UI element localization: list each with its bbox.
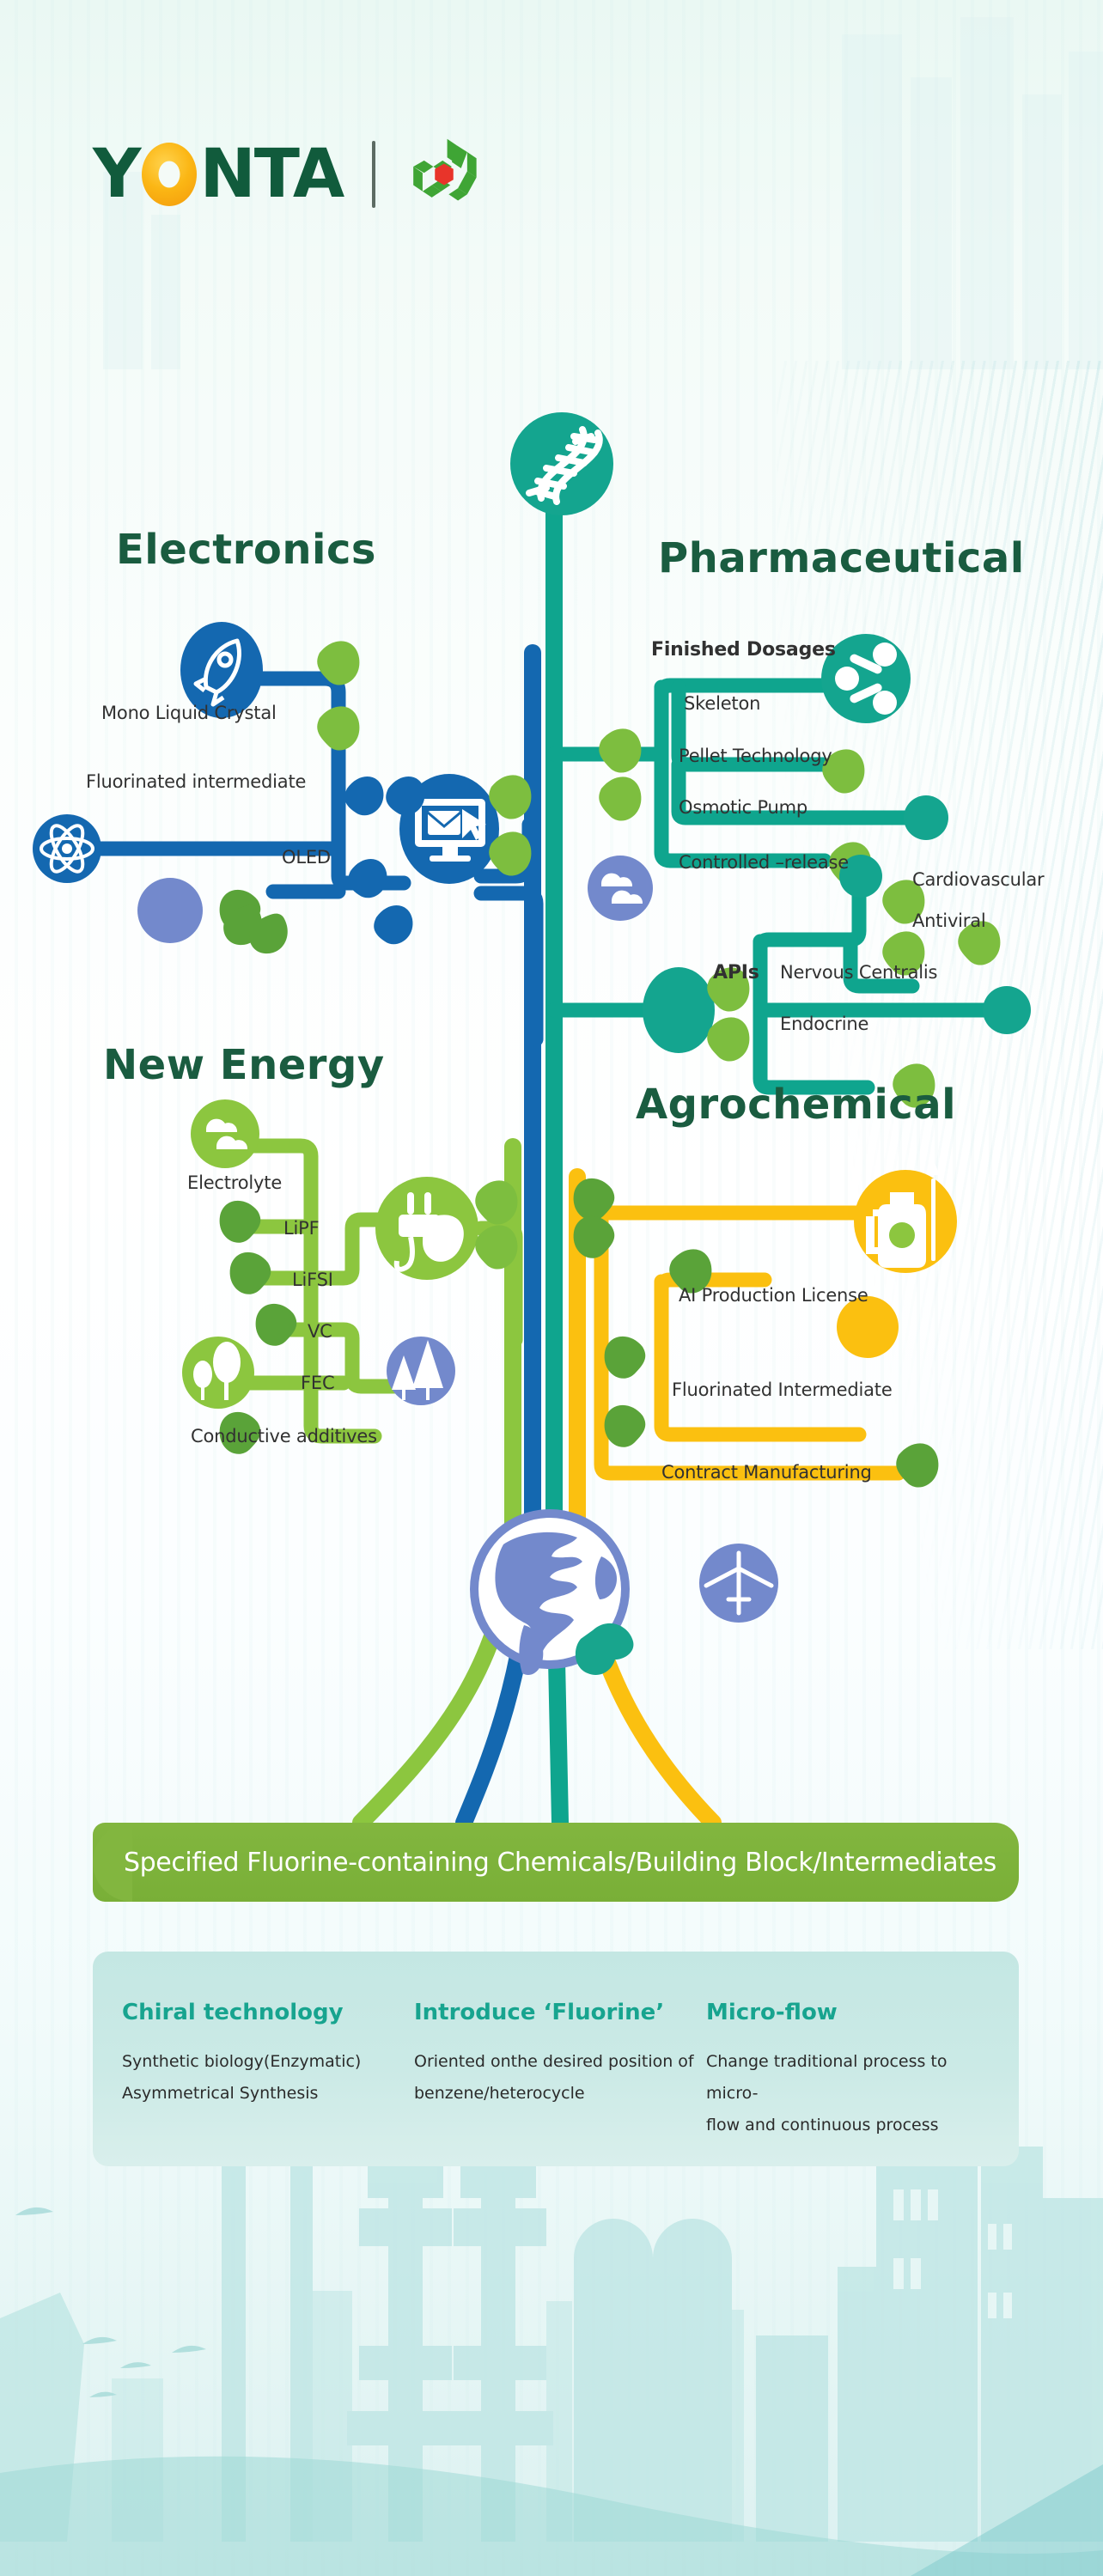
label-fec: FEC [301, 1373, 334, 1393]
card-line-2: Asymmetrical Synthesis [122, 2078, 414, 2110]
feature-cards: Chiral technology Synthetic biology(Enzy… [93, 1952, 1019, 2166]
label-controlled-release: Controlled –release [679, 852, 849, 873]
label-fluorinated-intermediate: Fluorinated intermediate [86, 771, 306, 792]
label-ai-production-license: AI Production License [679, 1285, 868, 1306]
label-lipf: LiPF [283, 1218, 319, 1239]
label-endocrine: Endocrine [780, 1014, 868, 1034]
card-line-2: flow and continuous process [706, 2110, 998, 2141]
label-nervous-centralis: Nervous Centralis [780, 962, 937, 983]
banner-text: Specified Fluorine-containing Chemicals/… [93, 1848, 996, 1878]
card-introduce-fluorine: Introduce ‘Fluorine’ Oriented onthe desi… [414, 2000, 706, 2166]
new-energy-cloud-icon[interactable] [191, 1099, 259, 1168]
section-title-agrochemical: Agrochemical [636, 1081, 956, 1129]
label-apis: APIs [713, 962, 759, 984]
card-heading: Chiral technology [122, 2000, 414, 2025]
label-pellet-technology: Pellet Technology [679, 746, 832, 766]
pharma-node-dot-3 [983, 986, 1031, 1034]
card-line-1: Change traditional process to micro- [706, 2046, 998, 2110]
card-heading: Introduce ‘Fluorine’ [414, 2000, 706, 2025]
label-mono-liquid-crystal: Mono Liquid Crystal [101, 703, 277, 723]
label-vc: VC [308, 1321, 332, 1342]
pine-trees-icon[interactable] [387, 1337, 455, 1405]
sprayer-bottle-icon[interactable] [854, 1163, 957, 1273]
section-title-electronics: Electronics [116, 526, 376, 574]
wind-turbine-icon[interactable] [699, 1544, 778, 1623]
globe-hand-pointer-icon[interactable] [474, 1513, 633, 1675]
section-title-new-energy: New Energy [103, 1041, 385, 1089]
label-antiviral: Antiviral [912, 910, 986, 931]
label-electrolyte: Electrolyte [187, 1172, 282, 1193]
label-finished-dosages: Finished Dosages [651, 639, 836, 661]
tree-diagram: .blue { stroke:#1468B0; fill:none; strok… [0, 0, 1103, 2576]
card-chiral-technology: Chiral technology Synthetic biology(Enzy… [122, 2000, 414, 2166]
trees-icon[interactable] [182, 1337, 254, 1409]
cloud-icon[interactable] [588, 856, 653, 921]
label-contract-manufacturing: Contract Manufacturing [661, 1462, 872, 1483]
card-line-1: Oriented onthe desired position of [414, 2046, 706, 2078]
apis-node-circle [643, 967, 715, 1053]
label-skeleton: Skeleton [684, 693, 760, 714]
label-oled: OLED [282, 847, 331, 868]
label-lifsi: LiFSI [292, 1270, 333, 1290]
label-cardiovascular: Cardiovascular [912, 869, 1044, 890]
atom-icon[interactable] [33, 814, 101, 883]
label-conductive-additives: Conductive additives [191, 1426, 377, 1446]
plug-leaf-icon[interactable] [375, 1177, 478, 1280]
card-line-2: benzene/heterocycle [414, 2078, 706, 2110]
card-heading: Micro-flow [706, 2000, 998, 2025]
label-osmotic-pump: Osmotic Pump [679, 797, 807, 818]
pharma-node-dot-1 [904, 795, 948, 840]
decorative-circle-1 [137, 878, 203, 943]
bottom-banner: Specified Fluorine-containing Chemicals/… [93, 1823, 1019, 1902]
section-title-pharmaceutical: Pharmaceutical [658, 534, 1025, 582]
card-line-1: Synthetic biology(Enzymatic) [122, 2046, 414, 2078]
card-micro-flow: Micro-flow Change traditional process to… [706, 2000, 998, 2166]
dna-node[interactable] [510, 412, 613, 515]
label-fluorinated-intermediate-agro: Fluorinated Intermediate [672, 1379, 893, 1400]
